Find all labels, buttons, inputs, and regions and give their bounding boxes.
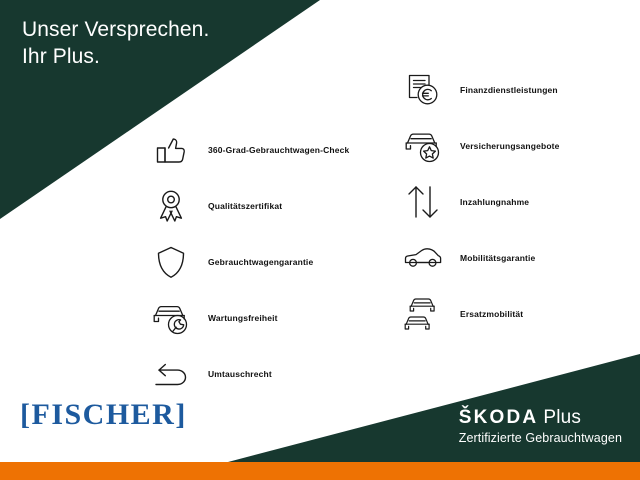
feature-label: Mobilitätsgarantie — [460, 253, 535, 264]
quality-rosette-icon — [148, 183, 194, 229]
feature-column-right: Finanzdienstleistungen Versicherungsange… — [400, 66, 640, 346]
feature-column-left: 360-Grad-Gebrauchtwagen-Check Qualitätsz… — [148, 126, 378, 406]
brand-mark: ŠKODA — [459, 407, 539, 428]
feature-item: 360-Grad-Gebrauchtwagen-Check — [148, 126, 378, 174]
headline-line-2: Ihr Plus. — [22, 43, 209, 70]
orange-footer-bar — [0, 462, 640, 480]
thumbs-up-icon — [148, 127, 194, 173]
feature-label: Ersatzmobilität — [460, 309, 523, 320]
document-euro-icon — [400, 67, 446, 113]
feature-item: Mobilitätsgarantie — [400, 234, 640, 282]
feature-label: Inzahlungnahme — [460, 197, 529, 208]
feature-label: Wartungsfreiheit — [208, 313, 278, 324]
car-star-icon — [400, 123, 446, 169]
headline: Unser Versprechen. Ihr Plus. — [22, 16, 209, 70]
dealer-logo[interactable]: [FISCHER] — [20, 398, 187, 432]
brand-logo-top: ŠKODAPlus — [459, 406, 622, 429]
feature-label: Umtauschrecht — [208, 369, 272, 380]
feature-item: Ersatzmobilität — [400, 290, 640, 338]
car-wrench-icon — [148, 295, 194, 341]
feature-label: Gebrauchtwagengarantie — [208, 257, 313, 268]
feature-item: Qualitätszertifikat — [148, 182, 378, 230]
promo-banner: Unser Versprechen. Ihr Plus. 360-Grad-Ge… — [0, 0, 640, 480]
brand-subline: Zertifizierte Gebrauchtwagen — [459, 430, 622, 446]
feature-item: Umtauschrecht — [148, 350, 378, 398]
feature-item: Finanzdienstleistungen — [400, 66, 640, 114]
two-cars-icon — [400, 291, 446, 337]
headline-line-1: Unser Versprechen. — [22, 18, 209, 41]
shield-icon — [148, 239, 194, 285]
feature-label: Finanzdienstleistungen — [460, 85, 558, 96]
feature-label: Versicherungsangebote — [460, 141, 560, 152]
brand-plus: Plus — [543, 407, 581, 428]
sports-car-icon — [400, 235, 446, 281]
up-down-arrows-icon — [400, 179, 446, 225]
brand-logo[interactable]: ŠKODAPlus Zertifizierte Gebrauchtwagen — [459, 406, 622, 446]
feature-label: 360-Grad-Gebrauchtwagen-Check — [208, 145, 349, 156]
return-arrow-icon — [148, 351, 194, 397]
feature-item: Inzahlungnahme — [400, 178, 640, 226]
feature-label: Qualitätszertifikat — [208, 201, 282, 212]
feature-item: Gebrauchtwagengarantie — [148, 238, 378, 286]
feature-item: Wartungsfreiheit — [148, 294, 378, 342]
feature-item: Versicherungsangebote — [400, 122, 640, 170]
